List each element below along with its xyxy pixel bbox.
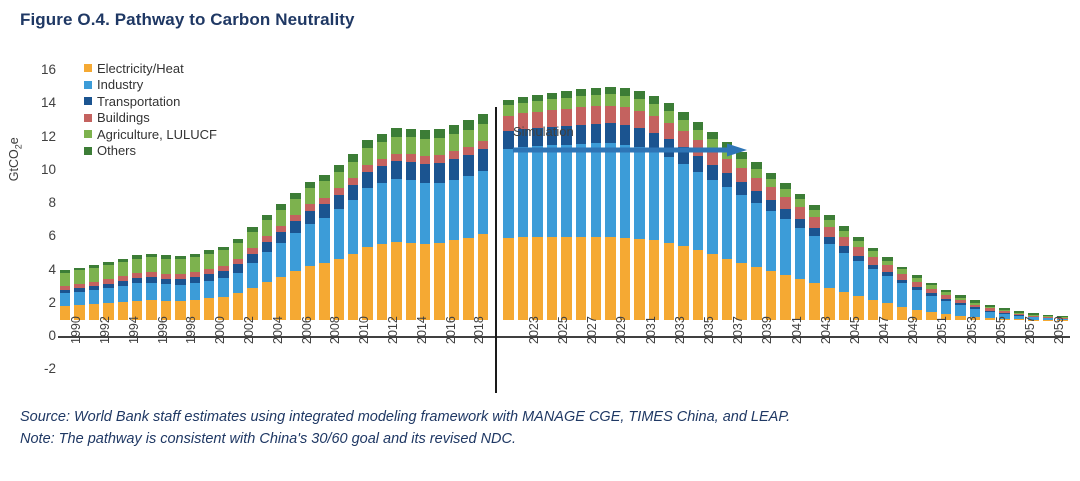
bar-segment bbox=[103, 288, 113, 303]
bar-segment bbox=[449, 240, 459, 320]
bar-historical-2010[interactable] bbox=[348, 154, 358, 320]
x-tick-historical-2006: 2006 bbox=[301, 316, 314, 344]
x-tick-simulation-2027: 2027 bbox=[586, 316, 599, 344]
bar-segment bbox=[766, 187, 777, 200]
bar-segment bbox=[406, 243, 416, 320]
bar-segment bbox=[605, 106, 616, 124]
bar-historical-2005[interactable] bbox=[276, 204, 286, 320]
bar-segment bbox=[780, 189, 791, 197]
right-arrow-icon bbox=[511, 143, 749, 157]
page-title: Figure O.4. Pathway to Carbon Neutrality bbox=[20, 10, 355, 30]
bar-segment bbox=[362, 148, 372, 165]
bar-segment bbox=[576, 96, 587, 107]
bar-segment bbox=[478, 141, 488, 149]
note-line: Note: The pathway is consistent with Chi… bbox=[20, 428, 1070, 450]
bar-segment bbox=[362, 247, 372, 320]
bar-segment bbox=[766, 200, 777, 211]
bar-segment bbox=[824, 220, 835, 227]
bar-segment bbox=[839, 237, 850, 247]
bar-simulation-2030[interactable] bbox=[620, 88, 631, 320]
bar-segment bbox=[736, 263, 747, 320]
x-tick-simulation-2041: 2041 bbox=[791, 316, 804, 344]
x-tick-historical-2008: 2008 bbox=[329, 316, 342, 344]
bar-historical-1990[interactable] bbox=[60, 270, 70, 320]
bar-segment bbox=[576, 89, 587, 96]
bar-segment bbox=[290, 221, 300, 233]
bar-segment bbox=[780, 209, 791, 219]
bar-segment bbox=[736, 182, 747, 195]
bar-segment bbox=[693, 156, 704, 172]
bar-segment bbox=[809, 217, 820, 228]
bar-historical-2018[interactable] bbox=[463, 120, 473, 320]
bar-simulation-2037[interactable] bbox=[722, 142, 733, 320]
bar-segment bbox=[503, 105, 514, 115]
bar-segment bbox=[362, 140, 372, 148]
bar-simulation-2022[interactable] bbox=[503, 100, 514, 320]
bar-segment bbox=[707, 180, 718, 255]
bar-segment bbox=[290, 233, 300, 271]
bar-segment bbox=[420, 156, 430, 164]
bar-segment bbox=[649, 240, 660, 320]
bar-segment bbox=[634, 111, 645, 128]
bar-segment bbox=[478, 234, 488, 320]
bar-segment bbox=[89, 268, 99, 282]
bar-segment bbox=[233, 243, 243, 258]
bar-simulation-2042[interactable] bbox=[795, 194, 806, 320]
bar-segment bbox=[591, 143, 602, 236]
bar-segment bbox=[853, 247, 864, 256]
bar-segment bbox=[693, 172, 704, 250]
bar-segment bbox=[391, 242, 401, 320]
bar-historical-2013[interactable] bbox=[391, 128, 401, 320]
bar-segment bbox=[751, 191, 762, 203]
y-tick-4: 4 bbox=[22, 263, 56, 277]
bar-historical-2000[interactable] bbox=[204, 250, 214, 320]
bar-segment bbox=[478, 149, 488, 171]
bar-segment bbox=[406, 129, 416, 138]
bar-simulation-2027[interactable] bbox=[576, 89, 587, 320]
bar-segment bbox=[377, 166, 387, 183]
bar-segment bbox=[276, 232, 286, 243]
bar-segment bbox=[591, 237, 602, 320]
bar-segment bbox=[276, 210, 286, 226]
bar-historical-1994[interactable] bbox=[118, 259, 128, 320]
bar-segment bbox=[74, 292, 84, 305]
bar-segment bbox=[161, 259, 171, 274]
bar-segment bbox=[576, 107, 587, 124]
x-tick-historical-1996: 1996 bbox=[157, 316, 170, 344]
bar-segment bbox=[780, 219, 791, 275]
bar-simulation-2029[interactable] bbox=[605, 87, 616, 320]
bar-segment bbox=[233, 264, 243, 272]
bar-segment bbox=[882, 265, 893, 272]
bar-simulation-2050[interactable] bbox=[912, 275, 923, 320]
bar-segment bbox=[503, 116, 514, 132]
historical-panel bbox=[58, 52, 490, 336]
bar-segment bbox=[348, 162, 358, 179]
bar-simulation-2044[interactable] bbox=[824, 215, 835, 320]
bar-segment bbox=[262, 282, 272, 320]
bar-segment bbox=[478, 114, 488, 124]
bar-segment bbox=[576, 237, 587, 320]
bar-segment bbox=[362, 172, 372, 188]
bar-simulation-2051[interactable] bbox=[926, 283, 937, 320]
bar-segment bbox=[391, 154, 401, 162]
bar-segment bbox=[795, 199, 806, 207]
bar-segment bbox=[262, 242, 272, 252]
bar-historical-2015[interactable] bbox=[420, 130, 430, 320]
bar-segment bbox=[664, 103, 675, 111]
bar-simulation-2040[interactable] bbox=[766, 173, 777, 320]
bar-segment bbox=[463, 147, 473, 155]
x-tick-simulation-2053: 2053 bbox=[966, 316, 979, 344]
y-tick-2: 2 bbox=[22, 296, 56, 310]
x-tick-simulation-2031: 2031 bbox=[645, 316, 658, 344]
bar-segment bbox=[218, 271, 228, 278]
bar-segment bbox=[912, 290, 923, 310]
bar-historical-2016[interactable] bbox=[434, 129, 444, 320]
bar-segment bbox=[463, 130, 473, 147]
bar-segment bbox=[406, 180, 416, 242]
bar-segment bbox=[591, 106, 602, 124]
bar-segment bbox=[634, 239, 645, 320]
bar-segment bbox=[463, 238, 473, 320]
bar-segment bbox=[377, 244, 387, 320]
bar-segment bbox=[736, 159, 747, 169]
bar-simulation-2028[interactable] bbox=[591, 88, 602, 320]
bar-segment bbox=[576, 144, 587, 237]
bar-segment bbox=[561, 98, 572, 109]
bar-segment bbox=[334, 172, 344, 189]
x-tick-simulation-2037: 2037 bbox=[732, 316, 745, 344]
x-tick-simulation-2049: 2049 bbox=[907, 316, 920, 344]
bar-segment bbox=[722, 187, 733, 258]
bar-segment bbox=[518, 237, 529, 320]
bar-segment bbox=[561, 237, 572, 320]
x-tick-simulation-2047: 2047 bbox=[878, 316, 891, 344]
x-tick-simulation-2057: 2057 bbox=[1024, 316, 1037, 344]
bar-segment bbox=[146, 257, 156, 272]
bar-segment bbox=[420, 139, 430, 156]
bar-segment bbox=[591, 95, 602, 106]
bar-segment bbox=[118, 262, 128, 277]
bar-historical-2001[interactable] bbox=[218, 247, 228, 320]
bar-segment bbox=[620, 107, 631, 125]
bar-segment bbox=[276, 277, 286, 320]
bar-simulation-2038[interactable] bbox=[736, 152, 747, 320]
bar-segment bbox=[420, 244, 430, 320]
y-tick-10: 10 bbox=[22, 163, 56, 177]
bar-segment bbox=[391, 179, 401, 242]
bar-segment bbox=[707, 165, 718, 180]
bar-segment bbox=[926, 296, 937, 312]
bar-segment bbox=[60, 273, 70, 286]
bar-historical-2008[interactable] bbox=[319, 175, 329, 320]
bar-segment bbox=[348, 154, 358, 161]
bar-segment bbox=[463, 120, 473, 129]
y-tick-8: 8 bbox=[22, 196, 56, 210]
source-and-note: Source: World Bank staff estimates using… bbox=[20, 406, 1070, 451]
bar-historical-1997[interactable] bbox=[161, 255, 171, 320]
bar-segment bbox=[391, 128, 401, 137]
bar-segment bbox=[204, 254, 214, 269]
x-tick-historical-1994: 1994 bbox=[128, 316, 141, 344]
x-tick-historical-2018: 2018 bbox=[473, 316, 486, 344]
bar-segment bbox=[434, 129, 444, 138]
bar-segment bbox=[693, 250, 704, 320]
bar-simulation-2046[interactable] bbox=[853, 237, 864, 320]
bar-segment bbox=[722, 259, 733, 321]
bar-segment bbox=[649, 116, 660, 133]
bar-segment bbox=[305, 224, 315, 266]
bar-segment bbox=[334, 209, 344, 258]
bar-segment bbox=[518, 147, 529, 237]
bar-segment bbox=[334, 188, 344, 195]
x-tick-historical-2014: 2014 bbox=[416, 316, 429, 344]
bar-segment bbox=[377, 134, 387, 142]
bar-segment bbox=[406, 137, 416, 154]
bar-segment bbox=[420, 130, 430, 139]
bar-segment bbox=[664, 123, 675, 140]
x-tick-simulation-2025: 2025 bbox=[557, 316, 570, 344]
x-tick-historical-2004: 2004 bbox=[272, 316, 285, 344]
bar-segment bbox=[649, 96, 660, 104]
bar-segment bbox=[377, 183, 387, 245]
bar-segment bbox=[348, 178, 358, 185]
bar-segment bbox=[377, 142, 387, 159]
bar-segment bbox=[620, 238, 631, 320]
x-tick-historical-1990: 1990 bbox=[70, 316, 83, 344]
bar-segment bbox=[868, 269, 879, 300]
bar-segment bbox=[941, 301, 952, 314]
bar-historical-2006[interactable] bbox=[290, 193, 300, 320]
bar-segment bbox=[406, 154, 416, 162]
bar-segment bbox=[74, 270, 84, 284]
x-tick-historical-2000: 2000 bbox=[214, 316, 227, 344]
bar-segment bbox=[634, 147, 645, 238]
bar-segment bbox=[420, 164, 430, 183]
bar-simulation-2039[interactable] bbox=[751, 162, 762, 320]
bar-segment bbox=[247, 254, 257, 263]
source-line: Source: World Bank staff estimates using… bbox=[20, 406, 1070, 428]
bar-segment bbox=[547, 99, 558, 110]
bar-segment bbox=[319, 198, 329, 205]
bar-segment bbox=[218, 278, 228, 296]
bar-segment bbox=[707, 254, 718, 320]
y-tick--2: -2 bbox=[22, 362, 56, 376]
bar-segment bbox=[118, 286, 128, 302]
bar-segment bbox=[247, 263, 257, 288]
bar-historical-1998[interactable] bbox=[175, 256, 185, 320]
bar-segment bbox=[868, 257, 879, 265]
x-tick-simulation-2029: 2029 bbox=[615, 316, 628, 344]
bar-segment bbox=[391, 161, 401, 178]
bar-simulation-2036[interactable] bbox=[707, 132, 718, 320]
bar-segment bbox=[348, 200, 358, 253]
bar-segment bbox=[620, 96, 631, 108]
bar-segment bbox=[795, 228, 806, 280]
bar-historical-1992[interactable] bbox=[89, 265, 99, 320]
bar-segment bbox=[146, 283, 156, 300]
bar-segment bbox=[620, 145, 631, 238]
y-tick-12: 12 bbox=[22, 130, 56, 144]
bar-segment bbox=[605, 87, 616, 94]
bar-segment bbox=[449, 134, 459, 151]
bar-segment bbox=[532, 146, 543, 237]
bar-segment bbox=[795, 219, 806, 228]
bar-segment bbox=[678, 246, 689, 320]
bar-segment bbox=[664, 157, 675, 243]
bar-segment bbox=[795, 279, 806, 320]
bar-segment bbox=[751, 267, 762, 320]
bar-historical-2011[interactable] bbox=[362, 140, 372, 320]
bar-segment bbox=[809, 283, 820, 320]
bar-segment bbox=[319, 181, 329, 197]
bar-segment bbox=[247, 232, 257, 248]
bar-historical-2014[interactable] bbox=[406, 129, 416, 320]
bar-segment bbox=[766, 179, 777, 188]
bar-segment bbox=[955, 305, 966, 316]
x-tick-simulation-2059: 2059 bbox=[1053, 316, 1066, 344]
bar-segment bbox=[348, 254, 358, 321]
bar-segment bbox=[434, 243, 444, 320]
bar-segment bbox=[190, 283, 200, 300]
bar-segment bbox=[591, 88, 602, 95]
bar-segment bbox=[824, 244, 835, 287]
bar-historical-1991[interactable] bbox=[74, 268, 84, 321]
bar-segment bbox=[334, 195, 344, 209]
bar-segment bbox=[434, 138, 444, 155]
bar-historical-2007[interactable] bbox=[305, 182, 315, 320]
bar-segment bbox=[449, 159, 459, 180]
bar-segment bbox=[736, 195, 747, 262]
bar-segment bbox=[204, 274, 214, 281]
bar-segment bbox=[262, 252, 272, 282]
bar-segment bbox=[290, 271, 300, 320]
bar-historical-2012[interactable] bbox=[377, 134, 387, 321]
bar-historical-2017[interactable] bbox=[449, 125, 459, 320]
x-tick-simulation-2043: 2043 bbox=[820, 316, 833, 344]
bar-segment bbox=[305, 266, 315, 320]
bar-segment bbox=[561, 145, 572, 237]
bar-segment bbox=[518, 103, 529, 113]
bar-simulation-2049[interactable] bbox=[897, 267, 908, 321]
bar-simulation-2048[interactable] bbox=[882, 257, 893, 320]
bar-segment bbox=[190, 257, 200, 272]
bar-historical-2003[interactable] bbox=[247, 227, 257, 320]
bar-segment bbox=[478, 171, 488, 234]
bar-simulation-2043[interactable] bbox=[809, 205, 820, 320]
bar-segment bbox=[839, 253, 850, 292]
bar-segment bbox=[795, 207, 806, 219]
bar-segment bbox=[547, 237, 558, 320]
bar-segment bbox=[693, 130, 704, 141]
bar-segment bbox=[290, 199, 300, 215]
bar-simulation-2041[interactable] bbox=[780, 183, 791, 320]
x-tick-historical-1998: 1998 bbox=[185, 316, 198, 344]
bar-segment bbox=[634, 91, 645, 99]
bar-segment bbox=[882, 276, 893, 303]
bar-historical-1995[interactable] bbox=[132, 255, 142, 320]
chart-plot-area: GtCO2e 1614121086420-2 Electricity/HeatI… bbox=[0, 52, 1080, 352]
x-tick-historical-2002: 2002 bbox=[243, 316, 256, 344]
bar-segment bbox=[532, 237, 543, 320]
y-axis-label: GtCO2e bbox=[7, 163, 24, 181]
bar-segment bbox=[503, 238, 514, 320]
bar-segment bbox=[678, 164, 689, 246]
bar-historical-2019[interactable] bbox=[478, 114, 488, 320]
bar-segment bbox=[334, 259, 344, 321]
bar-segment bbox=[463, 155, 473, 177]
x-tick-simulation-2055: 2055 bbox=[995, 316, 1008, 344]
bar-segment bbox=[693, 122, 704, 130]
bar-historical-2002[interactable] bbox=[233, 239, 243, 320]
bar-segment bbox=[649, 151, 660, 240]
x-tick-historical-2012: 2012 bbox=[387, 316, 400, 344]
bar-segment bbox=[634, 99, 645, 111]
bar-simulation-2032[interactable] bbox=[649, 96, 660, 320]
bar-segment bbox=[434, 163, 444, 183]
bar-segment bbox=[605, 143, 616, 237]
bar-historical-1993[interactable] bbox=[103, 262, 113, 320]
x-tick-simulation-2045: 2045 bbox=[849, 316, 862, 344]
bar-segment bbox=[649, 104, 660, 115]
bar-segment bbox=[262, 220, 272, 236]
bar-historical-1999[interactable] bbox=[190, 254, 200, 320]
bar-segment bbox=[605, 237, 616, 320]
simulation-panel bbox=[501, 52, 1070, 336]
bar-segment bbox=[547, 145, 558, 236]
x-tick-simulation-2039: 2039 bbox=[761, 316, 774, 344]
bar-segment bbox=[605, 123, 616, 143]
bar-segment bbox=[434, 155, 444, 163]
bar-segment bbox=[678, 120, 689, 131]
bar-segment bbox=[161, 284, 171, 301]
bar-historical-2004[interactable] bbox=[262, 215, 272, 320]
y-axis-ticks: 1614121086420-2 bbox=[22, 52, 56, 352]
bar-historical-1996[interactable] bbox=[146, 254, 156, 320]
bar-segment bbox=[319, 204, 329, 217]
bar-segment bbox=[175, 285, 185, 301]
bar-simulation-2031[interactable] bbox=[634, 91, 645, 320]
bar-segment bbox=[89, 290, 99, 304]
x-tick-historical-2010: 2010 bbox=[358, 316, 371, 344]
y-tick-14: 14 bbox=[22, 96, 56, 110]
x-tick-simulation-2033: 2033 bbox=[674, 316, 687, 344]
y-tick-0: 0 bbox=[22, 329, 56, 343]
bar-segment bbox=[664, 111, 675, 122]
bar-segment bbox=[319, 175, 329, 182]
bar-segment bbox=[678, 112, 689, 120]
x-tick-simulation-2035: 2035 bbox=[703, 316, 716, 344]
bar-segment bbox=[809, 236, 820, 283]
bar-historical-2009[interactable] bbox=[334, 165, 344, 320]
chart-bars bbox=[58, 52, 1070, 352]
bar-segment bbox=[434, 183, 444, 243]
bar-segment bbox=[664, 243, 675, 320]
bar-simulation-2047[interactable] bbox=[868, 248, 879, 320]
bar-segment bbox=[348, 185, 358, 200]
bar-segment bbox=[132, 259, 142, 274]
bar-segment bbox=[377, 159, 387, 166]
bar-segment bbox=[319, 218, 329, 263]
bar-segment bbox=[751, 178, 762, 192]
bar-segment bbox=[591, 124, 602, 144]
bar-simulation-2045[interactable] bbox=[839, 226, 850, 320]
bar-simulation-2033[interactable] bbox=[664, 103, 675, 320]
bar-segment bbox=[391, 137, 401, 154]
x-tick-historical-2016: 2016 bbox=[445, 316, 458, 344]
